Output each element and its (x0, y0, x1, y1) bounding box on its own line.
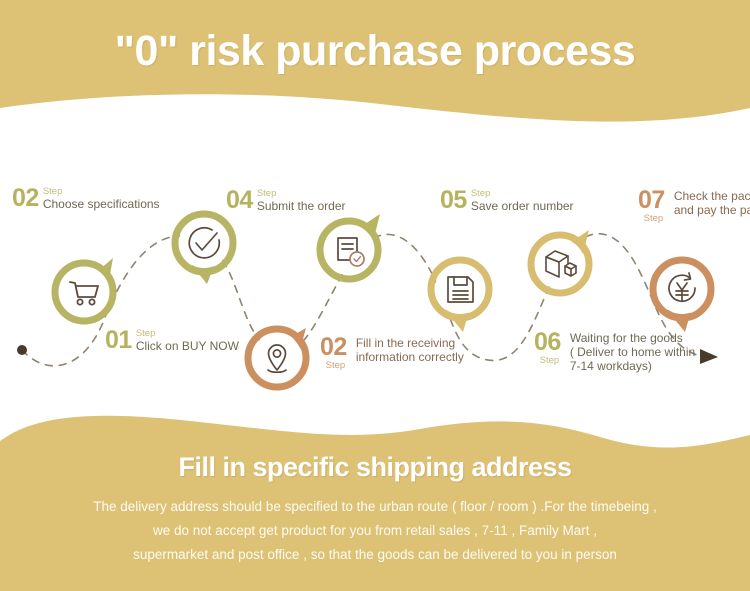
label-step-02-address: 02 Step Fill in the receiving informatio… (320, 335, 464, 371)
step-desc-line: Fill in the receiving (356, 336, 464, 350)
footer-title: Fill in specific shipping address (0, 450, 750, 484)
pin-step-04[interactable] (312, 212, 386, 286)
step-number: 06 (534, 330, 561, 355)
label-step-05: 05 Step Save order number (440, 188, 574, 213)
step-number: 01 (105, 328, 132, 353)
pin-step-07[interactable] (645, 252, 719, 326)
process-flow: 02 Step Choose specifications 04 Step Su… (0, 130, 750, 405)
page-title: "0" risk purchase process (0, 25, 750, 77)
step-number: 04 (226, 188, 253, 213)
infographic-canvas: "0" risk purchase process Fill in specif… (0, 0, 750, 591)
step-word: Step (257, 189, 346, 199)
footer-line-3: supermarket and post office , so that th… (0, 543, 750, 567)
step-word: Step (43, 187, 160, 197)
flow-end-arrow (700, 349, 718, 364)
step-number: 02 (320, 335, 347, 360)
step-word: Step (644, 214, 664, 224)
step-desc-line: 7-14 workdays) (570, 359, 695, 373)
step-desc-line: information correctly (356, 350, 464, 364)
label-step-06: 06 Step Waiting for the goods ( Deliver … (534, 330, 695, 373)
step-number: 05 (440, 188, 467, 213)
step-desc-line: Submit the order (257, 199, 346, 213)
step-desc-line: Save order number (471, 199, 574, 213)
pin-step-02-specs[interactable] (167, 206, 241, 280)
pin-step-05[interactable] (423, 252, 497, 326)
step-word: Step (136, 329, 239, 339)
step-word: Step (326, 361, 346, 371)
step-word: Step (540, 356, 560, 366)
pin-step-02-address[interactable] (240, 320, 314, 394)
flow-start-dot (17, 345, 27, 355)
step-number: 07 (638, 188, 665, 213)
label-step-07: 07 Step Check the package and pay the pa… (638, 188, 750, 224)
step-desc-line: and pay the payment (674, 203, 750, 217)
step-desc-line: ( Deliver to home within (570, 345, 695, 359)
step-desc-line: Check the package (674, 189, 750, 203)
step-desc-line: Click on BUY NOW (136, 339, 239, 353)
footer-paragraph: The delivery address should be specified… (0, 495, 750, 567)
label-step-02-specs: 02 Step Choose specifications (12, 186, 160, 211)
footer-line-2: we do not accept get product for you fro… (0, 519, 750, 543)
label-step-01: 01 Step Click on BUY NOW (105, 328, 239, 353)
label-step-04: 04 Step Submit the order (226, 188, 346, 213)
step-desc-line: Choose specifications (43, 197, 160, 211)
step-word: Step (471, 189, 574, 199)
pin-step-06[interactable] (523, 226, 597, 300)
footer-line-1: The delivery address should be specified… (0, 495, 750, 519)
step-desc-line: Waiting for the goods (570, 331, 695, 345)
step-number: 02 (12, 186, 39, 211)
pin-step-01[interactable] (47, 252, 121, 326)
